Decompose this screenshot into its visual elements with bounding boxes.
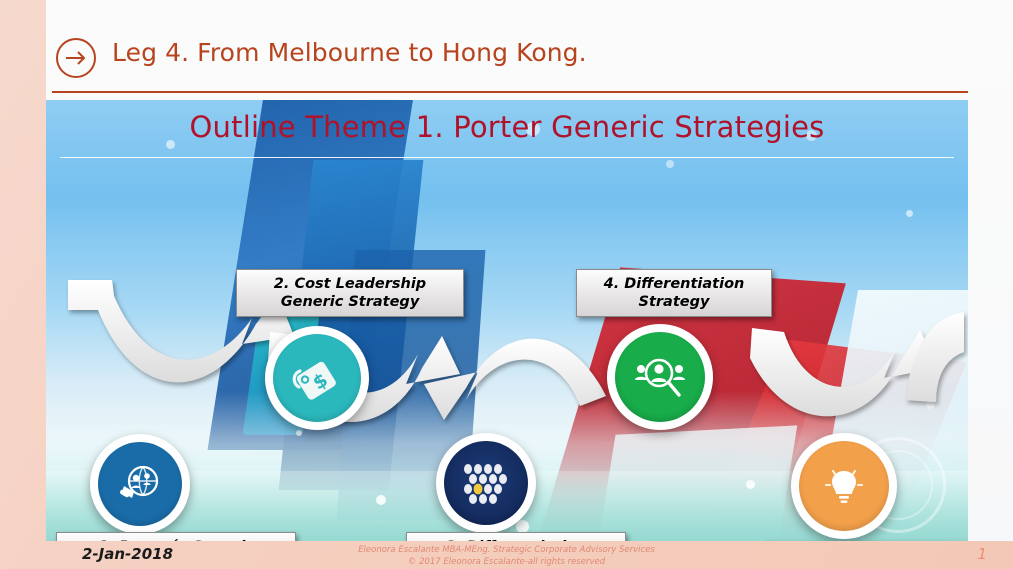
footer-credit-line-2: © 2017 Eleonora Escalante-all rights res… <box>0 556 1013 568</box>
globe-people-magnifier-icon <box>114 458 166 510</box>
step-1-caption: 1. Porter´s Generic Strategies Framework <box>56 532 296 541</box>
step-3-caption: 3. Differentiation Focus Strategy <box>406 532 626 541</box>
step-node-2[interactable]: $ <box>265 326 369 430</box>
footer-credit: Eleonora Escalante MBA-MEng. Strategic C… <box>0 544 1013 569</box>
step-2-disc: $ <box>273 334 361 422</box>
people-search-icon <box>631 355 689 399</box>
step-node-1[interactable] <box>90 434 190 534</box>
step-2-caption: 2. Cost Leadership Generic Strategy <box>236 269 464 317</box>
presentation-slide: Leg 4. From Melbourne to Hong Kong. Outl… <box>0 0 1013 569</box>
caption-line: 4. Differentiation <box>586 275 762 293</box>
footer-credit-line-1: Eleonora Escalante MBA-MEng. Strategic C… <box>0 544 1013 556</box>
step-1-disc <box>98 442 182 526</box>
step-4-disc <box>615 332 705 422</box>
caption-line: Strategy <box>586 293 762 311</box>
caption-line: 2. Cost Leadership <box>246 275 454 293</box>
circle-arrow-right-icon <box>54 36 98 80</box>
step-3-disc <box>444 441 528 525</box>
price-tag-dollar-icon: $ <box>289 350 345 406</box>
slide-header: Leg 4. From Melbourne to Hong Kong. <box>46 34 966 96</box>
slide-footer: 2-Jan-2018 Eleonora Escalante MBA-MEng. … <box>0 541 1013 569</box>
step-4-caption: 4. Differentiation Strategy <box>576 269 772 317</box>
step-node-5[interactable] <box>791 433 897 539</box>
header-divider <box>52 91 968 93</box>
caption-line: Generic Strategy <box>246 293 454 311</box>
background-photo-sailing-race: Outline Theme 1. Porter Generic Strategi… <box>46 100 968 541</box>
sphere-grid-standout-icon <box>456 459 516 507</box>
step-node-4[interactable] <box>607 324 713 430</box>
page-title: Leg 4. From Melbourne to Hong Kong. <box>112 38 587 67</box>
lightbulb-icon <box>819 461 869 511</box>
page-number: 1 <box>977 545 987 563</box>
step-node-3[interactable] <box>436 433 536 533</box>
step-5-disc <box>799 441 889 531</box>
